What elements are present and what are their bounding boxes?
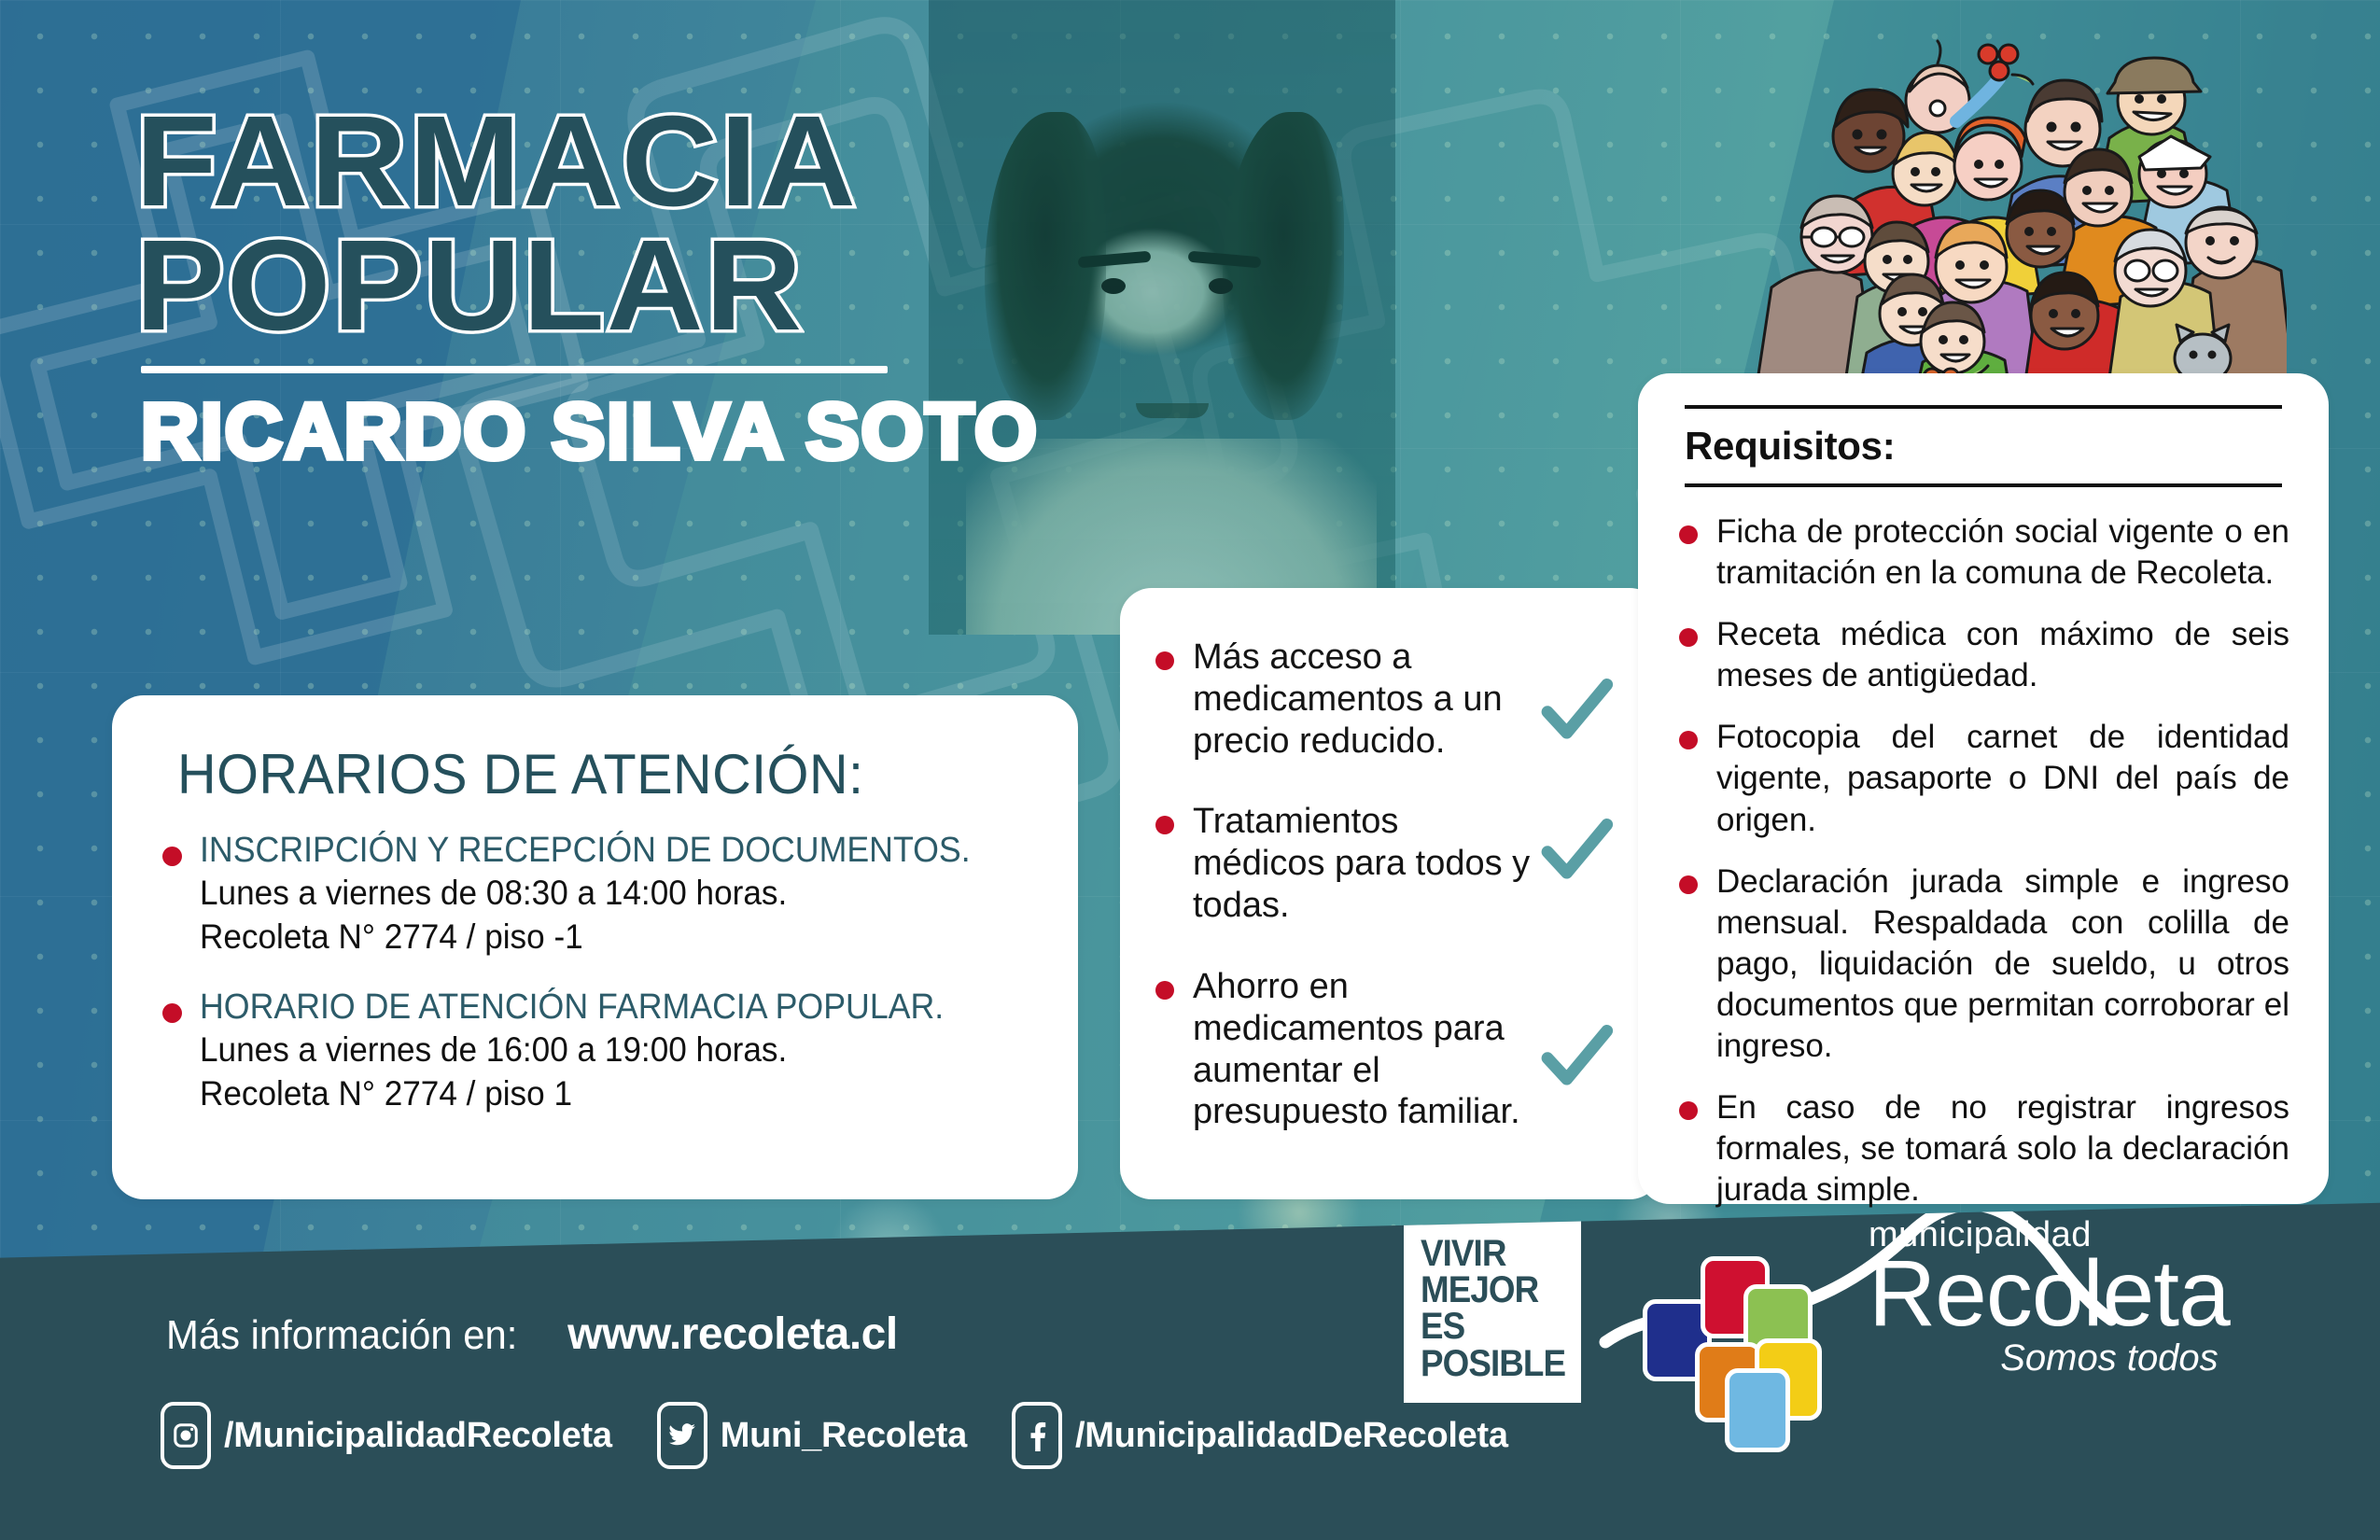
beneficio-item: Tratamientos médicos para todos y todas. [1152, 801, 1630, 926]
website-link[interactable]: www.recoleta.cl [567, 1309, 898, 1360]
bullet-icon [1679, 875, 1698, 894]
requisitos-divider-bottom [1685, 483, 2282, 487]
requisitos-list: Ficha de protección social vigente o en … [1677, 511, 2289, 1211]
card-beneficios: Más acceso a medicamentos a un precio re… [1120, 588, 1661, 1199]
bullet-icon [1679, 731, 1698, 749]
horarios-item-line2: Recoleta N° 2774 / piso 1 [200, 1071, 988, 1115]
horarios-item-line2: Recoleta N° 2774 / piso -1 [200, 915, 988, 959]
card-requisitos: Requisitos: Ficha de protección social v… [1638, 373, 2329, 1204]
more-info-label: Más información en: [166, 1312, 517, 1359]
facebook-icon[interactable] [1012, 1402, 1062, 1469]
bullet-icon [1155, 816, 1174, 834]
requisito-item: En caso de no registrar ingresos formale… [1677, 1087, 2289, 1211]
beneficio-item: Más acceso a medicamentos a un precio re… [1152, 637, 1630, 762]
requisito-item: Declaración jurada simple e ingreso mens… [1677, 861, 2289, 1067]
slogan-line-3: ES [1421, 1309, 1556, 1345]
logo-square-lightblue [1725, 1368, 1790, 1452]
page-title: FARMACIA POPULAR RICARDO SILVA SOTO [135, 103, 1021, 477]
bullet-icon [1155, 981, 1174, 1000]
horarios-item-line1: Lunes a viernes de 08:30 a 14:00 horas. [200, 871, 988, 915]
requisito-text: Declaración jurada simple e ingreso mens… [1716, 861, 2289, 1067]
instagram-icon[interactable] [161, 1402, 211, 1469]
requisito-text: En caso de no registrar ingresos formale… [1716, 1087, 2289, 1211]
slogan-line-2: MEJOR [1421, 1272, 1556, 1309]
social-twitter[interactable]: Muni_Recoleta [657, 1402, 967, 1469]
title-subtitle: RICARDO SILVA SOTO [141, 386, 1039, 477]
title-line-1: FARMACIA [135, 103, 1057, 221]
check-icon [1536, 810, 1617, 890]
slogan-line-1: VIVIR [1421, 1236, 1556, 1272]
logo-squares [1643, 1251, 1857, 1419]
title-line-2: POPULAR [135, 227, 1057, 345]
horarios-item: INSCRIPCIÓN Y RECEPCIÓN DE DOCUMENTOS. L… [161, 831, 1029, 959]
requisito-text: Fotocopia del carnet de identidad vigent… [1716, 717, 2289, 840]
more-info: Más información en: www.recoleta.cl [166, 1309, 898, 1360]
beneficio-text: Tratamientos médicos para todos y todas. [1193, 801, 1540, 926]
beneficio-item: Ahorro en medicamentos para aumentar el … [1152, 966, 1630, 1133]
poster-root: FARMACIA POPULAR RICARDO SILVA SOTO [0, 0, 2380, 1540]
logo-recoleta: Recoleta [1869, 1252, 2230, 1336]
bullet-icon [162, 1003, 182, 1023]
social-links: /MunicipalidadRecoleta Muni_Recoleta [161, 1402, 1508, 1469]
requisito-item: Receta médica con máximo de seis meses d… [1677, 614, 2289, 696]
slogan-box: VIVIR MEJOR ES POSIBLE [1404, 1221, 1581, 1403]
horarios-heading: HORARIOS DE ATENCIÓN: [177, 742, 995, 806]
beneficio-text: Más acceso a medicamentos a un precio re… [1193, 637, 1540, 762]
bullet-icon [1155, 651, 1174, 670]
crowd-illustration [1755, 17, 2287, 404]
requisito-item: Fotocopia del carnet de identidad vigent… [1677, 717, 2289, 840]
social-facebook[interactable]: /MunicipalidadDeRecoleta [1012, 1402, 1508, 1469]
title-divider [141, 366, 888, 373]
recoleta-logo: municipalidad Recoleta Somos todos [1589, 1193, 2335, 1426]
facebook-handle[interactable]: /MunicipalidadDeRecoleta [1075, 1416, 1508, 1456]
beneficio-text: Ahorro en medicamentos para aumentar el … [1193, 966, 1540, 1133]
horarios-item-head: HORARIO DE ATENCIÓN FARMACIA POPULAR. [200, 987, 980, 1028]
bullet-icon [1679, 628, 1698, 647]
horarios-item-line1: Lunes a viernes de 16:00 a 19:00 horas. [200, 1028, 988, 1071]
check-icon [1536, 670, 1617, 750]
bullet-icon [1679, 525, 1698, 544]
requisito-item: Ficha de protección social vigente o en … [1677, 511, 2289, 594]
instagram-handle[interactable]: /MunicipalidadRecoleta [224, 1416, 612, 1456]
logo-text: municipalidad Recoleta Somos todos [1869, 1215, 2230, 1379]
card-horarios: HORARIOS DE ATENCIÓN: INSCRIPCIÓN Y RECE… [112, 695, 1078, 1199]
twitter-handle[interactable]: Muni_Recoleta [721, 1416, 967, 1456]
social-instagram[interactable]: /MunicipalidadRecoleta [161, 1402, 612, 1469]
bullet-icon [1679, 1101, 1698, 1120]
twitter-icon[interactable] [657, 1402, 707, 1469]
slogan-line-4: POSIBLE [1421, 1346, 1556, 1382]
check-icon [1536, 1016, 1617, 1097]
bullet-icon [162, 847, 182, 866]
requisitos-title: Requisitos: [1677, 409, 2289, 483]
requisito-text: Receta médica con máximo de seis meses d… [1716, 614, 2289, 696]
horarios-item: HORARIO DE ATENCIÓN FARMACIA POPULAR. Lu… [161, 987, 1029, 1116]
requisito-text: Ficha de protección social vigente o en … [1716, 511, 2289, 594]
horarios-item-head: INSCRIPCIÓN Y RECEPCIÓN DE DOCUMENTOS. [200, 831, 980, 871]
